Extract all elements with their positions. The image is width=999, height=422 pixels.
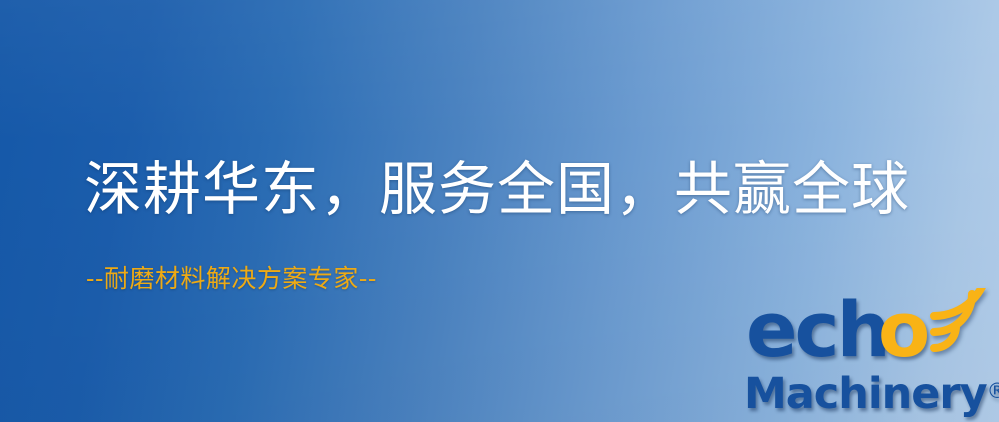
logo-wordmark: ech o [742, 292, 997, 372]
promo-banner: 深耕华东，服务全国，共赢全球 --耐磨材料解决方案专家-- ech o Mach… [0, 0, 999, 422]
banner-subheadline: --耐磨材料解决方案专家-- [86, 262, 377, 296]
logo-text-ech: ech [746, 290, 888, 370]
banner-headline: 深耕华东，服务全国，共赢全球 [84, 152, 910, 226]
company-logo: ech o Machinery® [742, 292, 997, 420]
signal-waves-icon [928, 288, 999, 356]
logo-tagline-text: Machinery [744, 369, 987, 419]
logo-tagline: Machinery® [744, 366, 999, 419]
logo-text-o: o [878, 290, 930, 370]
registered-trademark-icon: ® [987, 379, 999, 403]
